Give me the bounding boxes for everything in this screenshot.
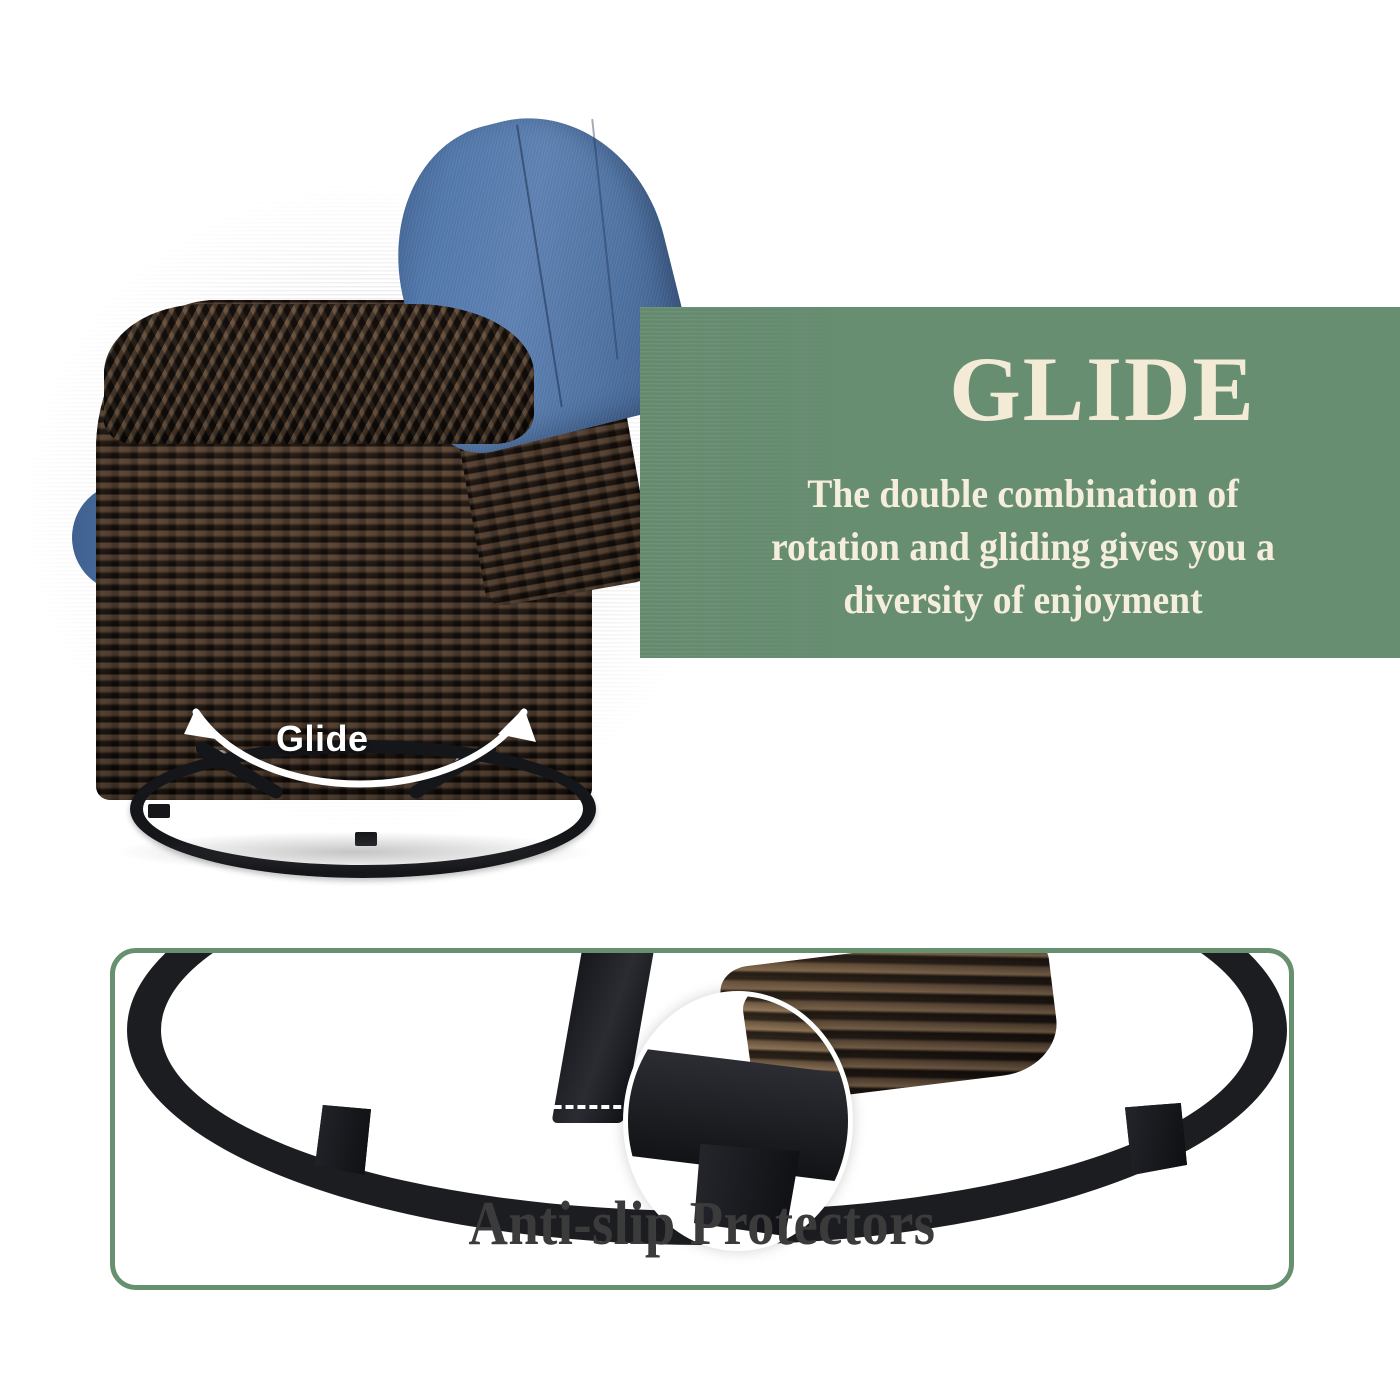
product-image-glider-chair: Glide [0,90,720,880]
anti-slip-protector-foot [1125,1103,1187,1175]
glide-info-panel: GLIDE The double combination of rotation… [640,307,1400,658]
panel-body-text: The double combination of rotation and g… [689,467,1356,627]
panel-body-line-1: The double combination of [689,467,1356,520]
protector-face [1125,1103,1187,1175]
anti-slip-caption: Anti-slip Protectors [185,1189,1218,1260]
glide-annotation-label: Glide [276,718,369,760]
product-feature-page: Glide GLIDE The double combination of ro… [0,0,1400,1400]
alignment-guide-line [327,1105,657,1109]
anti-slip-protector-foot [315,1105,371,1175]
wicker-rolled-arm [104,304,534,444]
base-foot [148,804,170,818]
protector-face [315,1105,371,1175]
anti-slip-feature-panel: Anti-slip Protectors [110,948,1294,1290]
wicker-braid-texture [104,304,534,444]
panel-body-line-3: diversity of enjoyment [689,573,1356,626]
panel-body-line-2: rotation and gliding gives you a [689,520,1356,573]
chair-drop-shadow [120,832,590,872]
top-feature-section: Glide GLIDE The double combination of ro… [0,0,1400,920]
panel-heading-glide: GLIDE [640,343,1400,435]
